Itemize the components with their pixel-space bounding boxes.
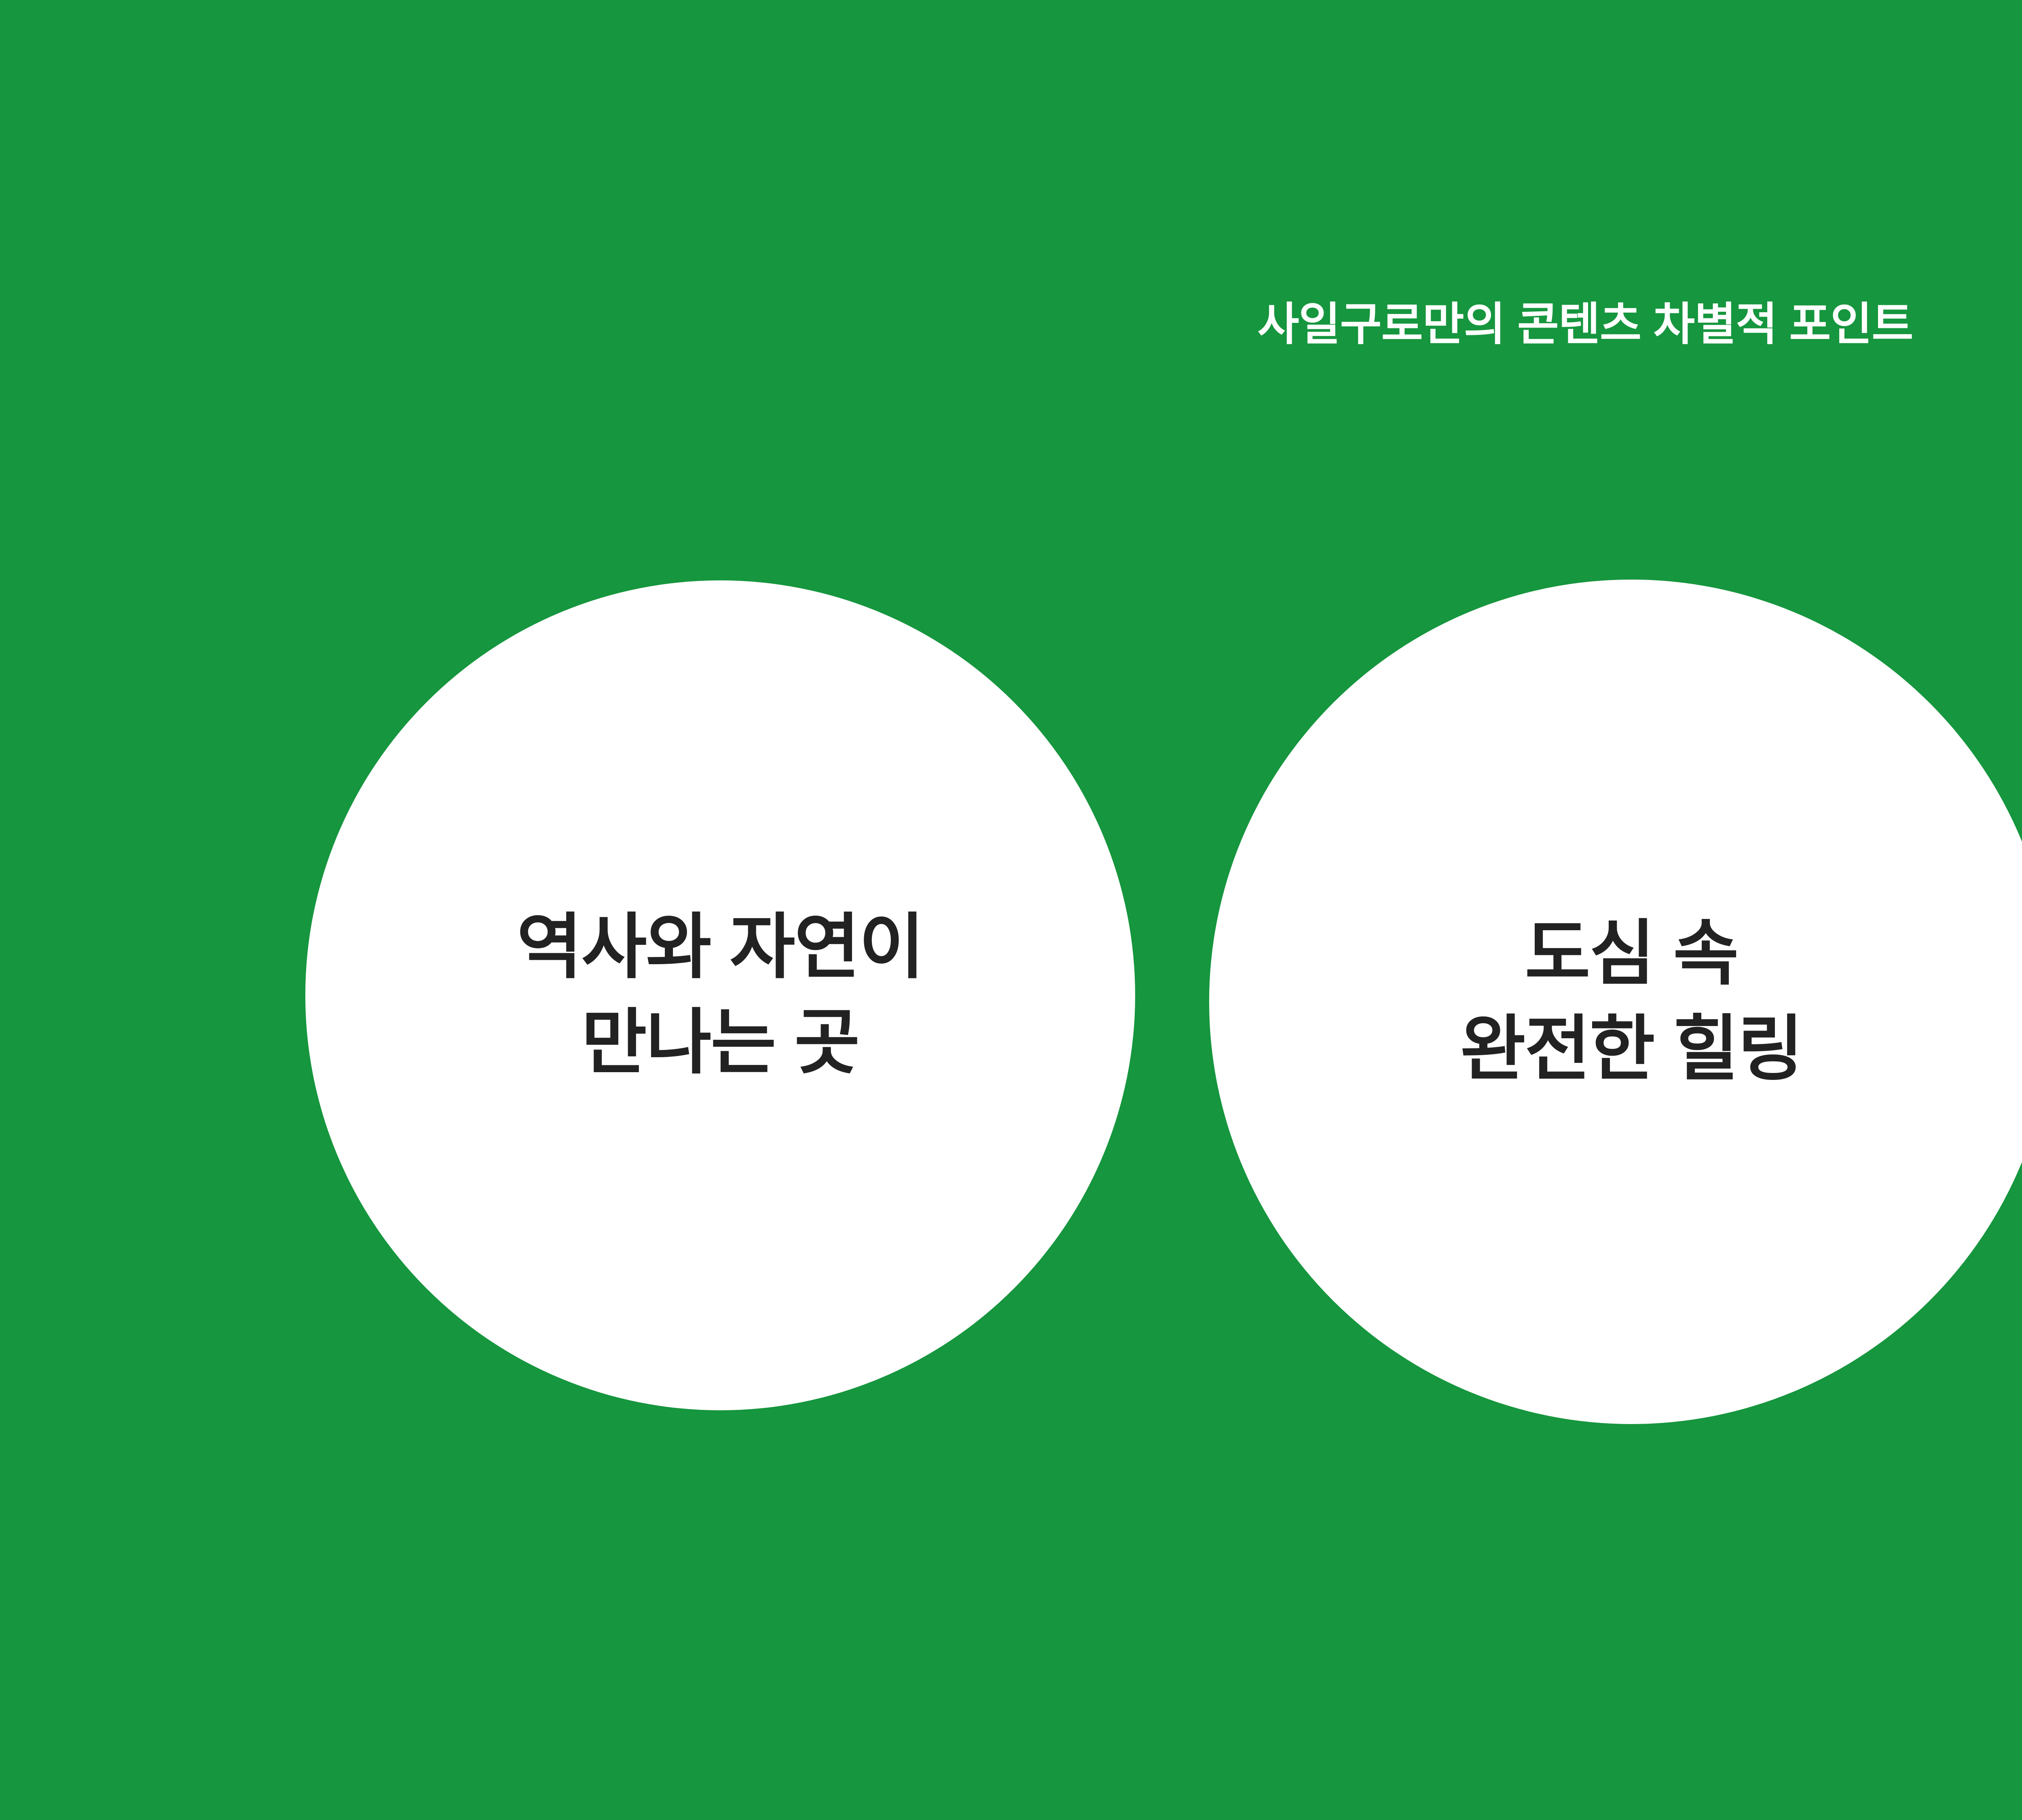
page-title: 사일구로만의 콘텐츠 차별적 포인트 — [0, 298, 2022, 351]
point-circle-text: 도심 속 완전한 힐링 — [1424, 906, 1839, 1097]
slide-canvas: 사일구로만의 콘텐츠 차별적 포인트 역사와 자연이 만나는 곳 도심 속 완전… — [0, 0, 2022, 1820]
point-line-1: 역사와 자연이 — [517, 900, 924, 995]
point-line-1: 도심 속 — [1460, 906, 1803, 1002]
point-line-2: 만나는 곳 — [517, 995, 924, 1091]
point-circle-text: 역사와 자연이 만나는 곳 — [480, 900, 960, 1091]
point-line-2: 완전한 힐링 — [1460, 1002, 1803, 1097]
points-circle-row: 역사와 자연이 만나는 곳 도심 속 완전한 힐링 친근하고 편안한 분위기 — [0, 578, 2022, 1428]
point-circle-history-nature[interactable]: 역사와 자연이 만나는 곳 — [305, 580, 1135, 1410]
point-circle-urban-healing[interactable]: 도심 속 완전한 힐링 — [1209, 580, 2022, 1424]
